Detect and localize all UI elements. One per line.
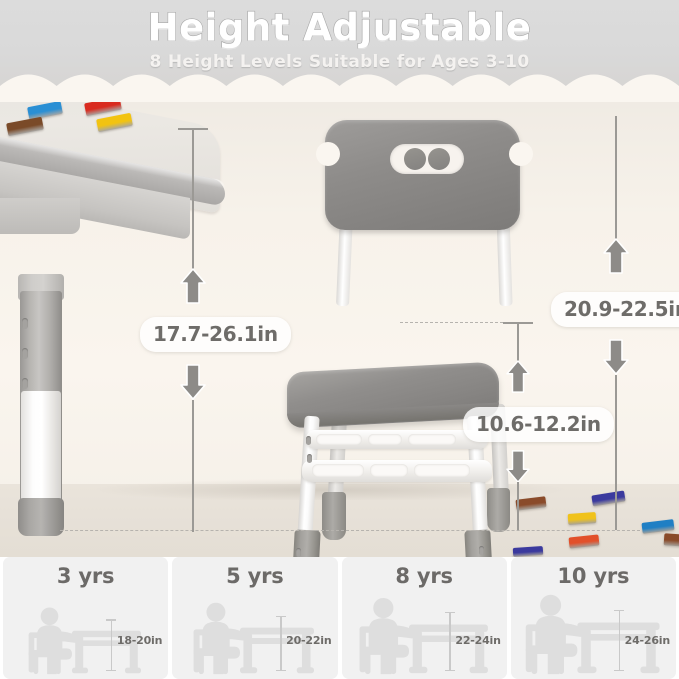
- age-label: 3 yrs: [3, 564, 168, 588]
- toy-block: [664, 533, 679, 547]
- table-leg-hole: [22, 318, 28, 329]
- floor-baseline-dashed: [60, 530, 640, 531]
- chair-foot-back-left: [322, 492, 346, 540]
- seated-child-at-desk-icon: [342, 590, 507, 676]
- chair-handle-cutout: [390, 144, 464, 174]
- age-measure-bracket: [280, 617, 282, 671]
- table-leg-hole: [22, 378, 28, 389]
- age-dimension-label: 22-24in: [455, 634, 500, 647]
- age-dimension-label: 18-20in: [117, 634, 162, 647]
- age-guide-row: 3 yrs 18-20in5 yrs: [0, 557, 679, 679]
- toy-block: [568, 512, 597, 525]
- age-measure-bracket-cap: [106, 619, 116, 621]
- seated-child-at-desk-icon: [3, 590, 168, 676]
- chair-measure-line-bottom: [615, 375, 617, 530]
- chair-foot-hole: [296, 548, 301, 557]
- age-measure-bracket-cap: [445, 612, 455, 614]
- page-subtitle: 8 Height Levels Suitable for Ages 3-10: [0, 52, 679, 72]
- chair-backrest: [325, 120, 520, 230]
- chair-total-height-label: 20.9-22.5in: [551, 292, 679, 327]
- age-measure-bracket: [619, 611, 621, 671]
- age-measure-bracket-cap: [276, 616, 286, 618]
- chair-foot-hole: [479, 546, 484, 555]
- product-photo-scene: 17.7-26.1in 10.6-12.2in 20.9-22.5in: [0, 86, 679, 557]
- chair-leg-hole: [306, 436, 311, 445]
- infographic-root: 17.7-26.1in 10.6-12.2in 20.9-22.5in Heig…: [0, 0, 679, 679]
- table-foot: [18, 498, 64, 536]
- chair-brace-upper: [306, 430, 488, 449]
- seat-level-dashed: [400, 322, 518, 323]
- table-measure-line-bottom: [192, 400, 194, 532]
- age-card-8-yrs[interactable]: 8 yrs 22-24in: [342, 557, 507, 679]
- page-title: Height Adjustable: [0, 6, 679, 49]
- age-label: 10 yrs: [511, 564, 676, 588]
- chair-leg-hole: [307, 454, 312, 463]
- seated-child-at-desk-icon: [172, 590, 337, 676]
- age-card-3-yrs[interactable]: 3 yrs 18-20in: [3, 557, 168, 679]
- age-label: 5 yrs: [172, 564, 337, 588]
- age-measure-bracket-cap: [614, 670, 624, 672]
- age-measure-bracket-cap: [614, 610, 624, 612]
- seat-measure-line-bottom: [517, 482, 519, 530]
- table-apron-front: [0, 198, 80, 234]
- chair-brace-lower: [302, 460, 492, 482]
- table-measure-line-top: [192, 128, 194, 278]
- age-label: 8 yrs: [342, 564, 507, 588]
- age-measure-bracket: [111, 621, 113, 671]
- age-measure-bracket-cap: [445, 670, 455, 672]
- table-leg-hole: [22, 348, 28, 359]
- chair-backrest-notch-left: [316, 142, 340, 166]
- seated-child-at-desk-icon: [511, 590, 676, 676]
- scallop-divider: [0, 72, 679, 102]
- age-measure-bracket: [449, 613, 451, 671]
- seat-height-label: 10.6-12.2in: [463, 407, 614, 442]
- chair-measure-line-top: [615, 116, 617, 248]
- age-measure-bracket-cap: [106, 670, 116, 672]
- table-leg-lower: [21, 391, 61, 513]
- chair-foot-back-right: [487, 488, 510, 532]
- table-height-label: 17.7-26.1in: [140, 317, 291, 352]
- age-card-10-yrs[interactable]: 10 yrs 24-26in: [511, 557, 676, 679]
- age-dimension-label: 20-22in: [286, 634, 331, 647]
- chair-backrest-notch-right: [509, 142, 533, 166]
- age-dimension-label: 24-26in: [625, 634, 670, 647]
- age-measure-bracket-cap: [276, 670, 286, 672]
- age-card-5-yrs[interactable]: 5 yrs 20-22in: [172, 557, 337, 679]
